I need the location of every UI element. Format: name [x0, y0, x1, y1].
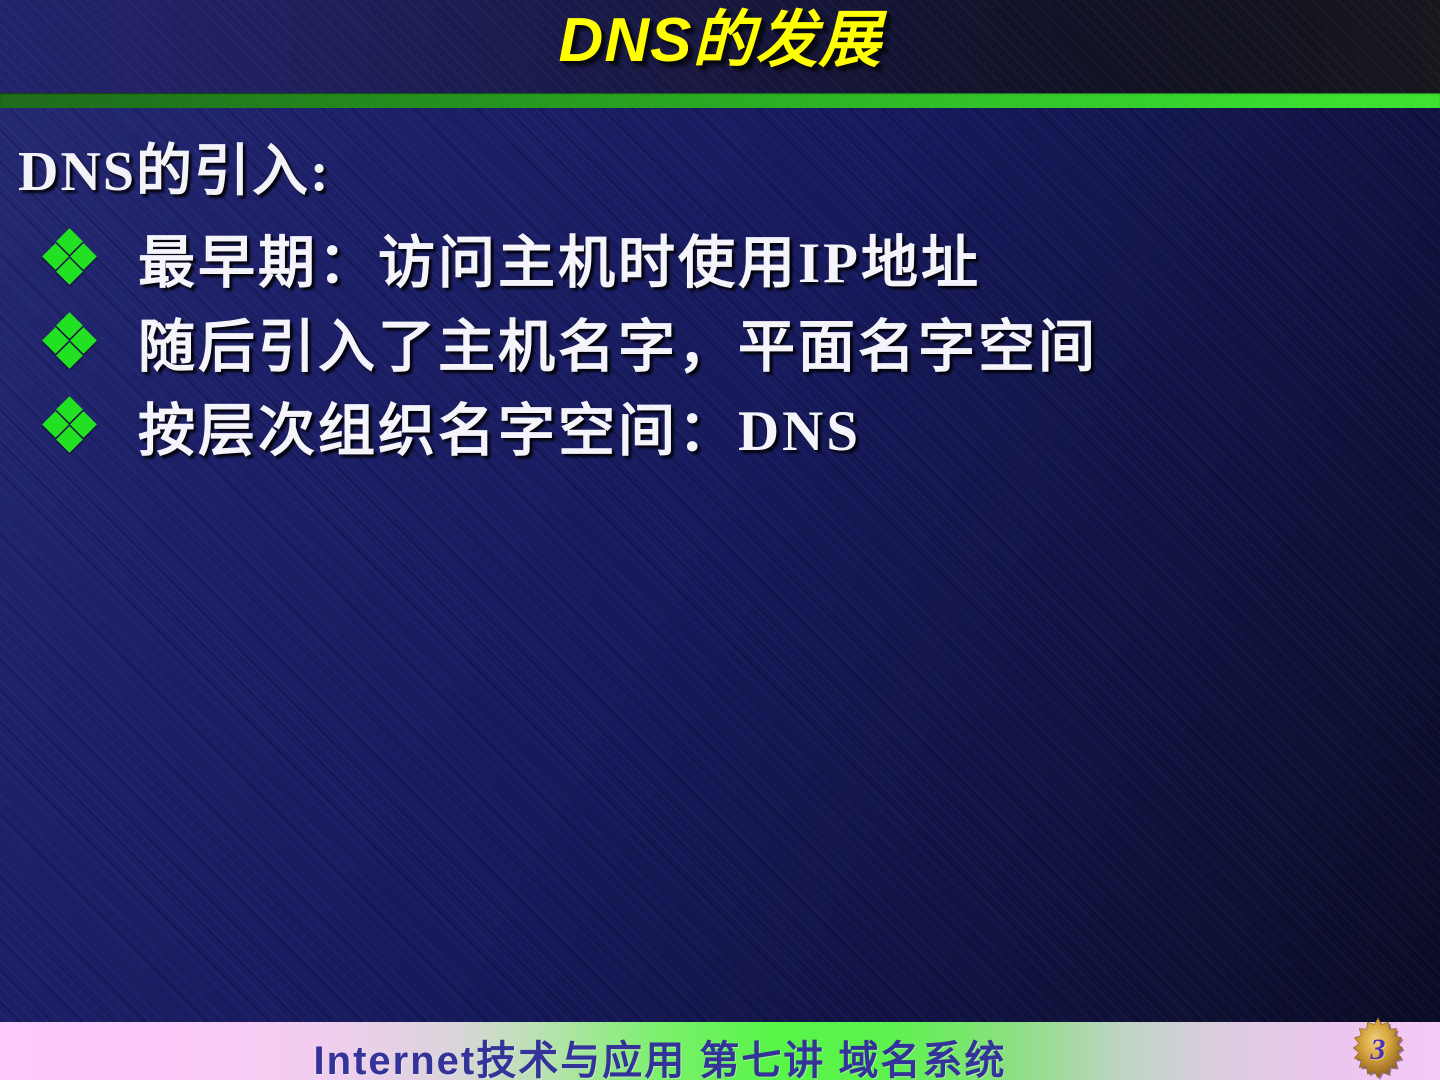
footer-label: Internet技术与应用 第七讲 域名系统: [0, 1028, 1440, 1080]
page-number-badge: 3: [1346, 1016, 1410, 1080]
slide-canvas: DNS的发展 DNS的引入: 最早期：访问主机时使用IP地址 随后引入了主机名字…: [0, 0, 1440, 1080]
section-heading: DNS的引入:: [18, 126, 331, 207]
title-band: DNS的发展: [0, 0, 1440, 93]
diamond-cluster-icon: [36, 228, 102, 288]
title-divider-rule: [0, 93, 1440, 108]
diamond-cluster-icon: [36, 312, 102, 372]
footer-bar: Internet技术与应用 第七讲 域名系统: [0, 1022, 1440, 1080]
list-item: 按层次组织名字空间：DNS: [36, 384, 1416, 468]
list-item: 随后引入了主机名字，平面名字空间: [36, 300, 1416, 384]
bullet-list: 最早期：访问主机时使用IP地址 随后引入了主机名字，平面名字空间 按层次组织名字…: [36, 216, 1416, 468]
list-item-label: 随后引入了主机名字，平面名字空间: [102, 301, 1098, 383]
starburst-icon: [1346, 1016, 1410, 1080]
list-item-label: 最早期：访问主机时使用IP地址: [102, 217, 981, 299]
diamond-cluster-icon: [36, 396, 102, 456]
page-title: DNS的发展: [0, 2, 1440, 80]
slide-body: DNS的引入: 最早期：访问主机时使用IP地址 随后引入了主机名字，平面名字空间…: [0, 108, 1440, 1022]
list-item: 最早期：访问主机时使用IP地址: [36, 216, 1416, 300]
list-item-label: 按层次组织名字空间：DNS: [102, 385, 861, 467]
